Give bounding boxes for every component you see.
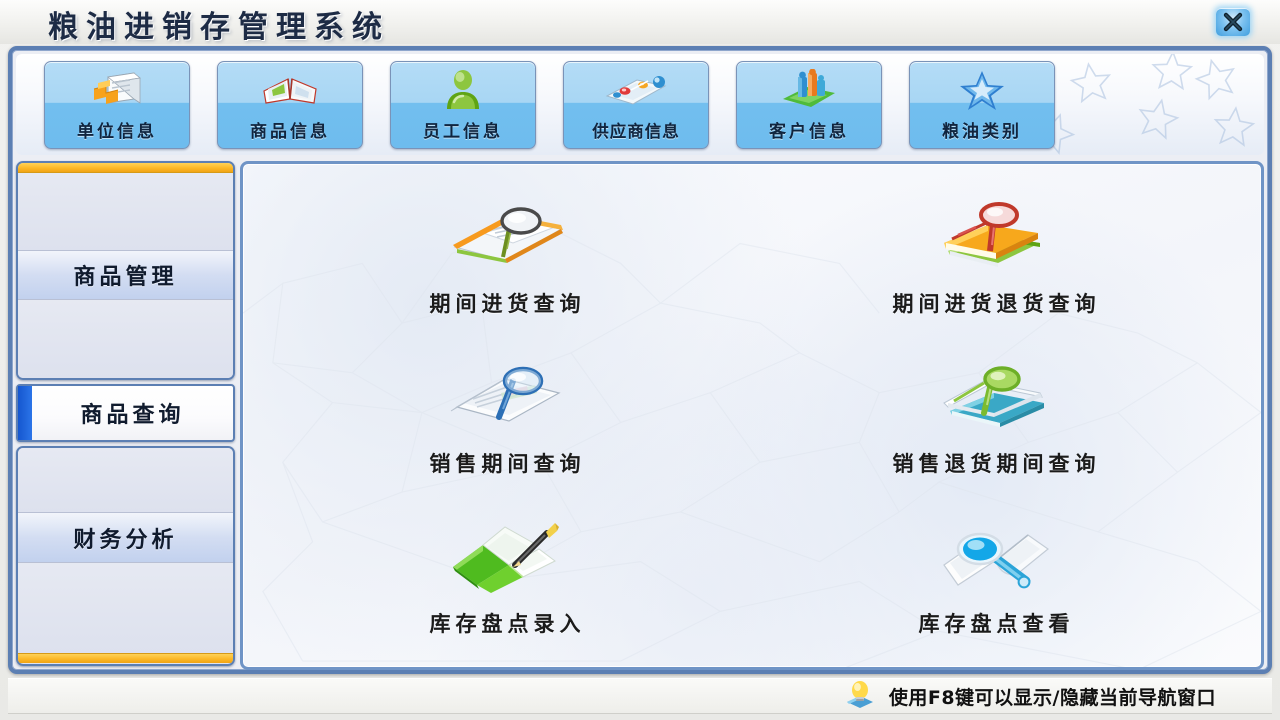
main-frame: 单位信息 商品信息 <box>8 46 1272 674</box>
blue-star-icon <box>910 68 1054 112</box>
toolbar-button-label: 粮油类别 <box>942 117 1022 142</box>
shortcut-label: 库存盘点录入 <box>430 608 586 638</box>
group-empty-space-top <box>18 448 233 512</box>
shortcut-sales-period-query[interactable]: 销售期间查询 <box>263 338 752 498</box>
person-icon <box>391 68 535 112</box>
shortcut-label: 期间进货查询 <box>430 288 586 318</box>
page-title: 粮油进销存管理系统 <box>48 2 390 46</box>
white-book-cyan-magnifier-icon <box>932 517 1062 597</box>
shortcut-stocktaking-view[interactable]: 库存盘点查看 <box>752 497 1241 657</box>
sidebar: 商品管理 商品查询 财务分析 <box>16 161 235 670</box>
status-hint-text: 使用F8键可以显示/隐藏当前导航窗口 <box>889 683 1216 710</box>
shortcut-label: 期间进货退货查询 <box>893 288 1101 318</box>
toolbar-button-unit-info[interactable]: 单位信息 <box>44 61 190 149</box>
group-top-accent-bar <box>18 163 233 173</box>
toolbar-button-product-info[interactable]: 商品信息 <box>217 61 363 149</box>
application-window: 粮油进销存管理系统 <box>0 0 1280 720</box>
shortcut-stocktaking-entry[interactable]: 库存盘点录入 <box>263 497 752 657</box>
customers-group-icon <box>737 68 881 112</box>
sidebar-group-product-management[interactable]: 商品管理 <box>16 161 235 380</box>
building-info-icon <box>45 68 189 112</box>
toolbar-button-customer-info[interactable]: 客户信息 <box>736 61 882 149</box>
group-empty-space-bottom <box>18 300 233 378</box>
toolbar-button-label: 员工信息 <box>423 117 503 142</box>
toolbar-button-label: 供应商信息 <box>592 118 680 142</box>
shortcut-period-purchase-query[interactable]: 期间进货查询 <box>263 178 752 338</box>
group-empty-space-top <box>18 173 233 250</box>
sidebar-item-label: 商品管理 <box>73 259 177 291</box>
close-button[interactable] <box>1216 8 1250 36</box>
toolbar-button-label: 单位信息 <box>77 117 157 142</box>
yellow-books-red-magnifier-icon <box>932 197 1062 277</box>
sidebar-group-financial-analysis[interactable]: 财务分析 <box>16 446 235 666</box>
shortcut-label: 销售期间查询 <box>430 448 586 478</box>
lightbulb-tip-icon <box>843 679 877 713</box>
shortcut-label: 销售退货期间查询 <box>893 448 1101 478</box>
book-green-magnifier-icon <box>932 357 1062 437</box>
content-panel: 期间进货查询 <box>240 161 1264 670</box>
open-book-icon <box>218 68 362 112</box>
group-bottom-accent-bar <box>18 653 233 663</box>
toolbar-button-grain-oil-category[interactable]: 粮油类别 <box>909 61 1055 149</box>
sidebar-item-financial-analysis[interactable]: 财务分析 <box>18 513 233 562</box>
toolbar-button-employee-info[interactable]: 员工信息 <box>390 61 536 149</box>
sidebar-item-label: 商品查询 <box>66 397 184 429</box>
supplier-plane-icon <box>564 68 708 112</box>
shortcut-label: 库存盘点查看 <box>919 608 1075 638</box>
sidebar-item-label: 财务分析 <box>73 522 177 554</box>
group-empty-space-bottom <box>18 563 233 653</box>
paper-blue-magnifier-icon <box>443 357 573 437</box>
sidebar-item-product-query[interactable]: 商品查询 <box>16 384 235 442</box>
toolbar-button-label: 商品信息 <box>250 117 330 142</box>
toolbar-button-supplier-info[interactable]: 供应商信息 <box>563 61 709 149</box>
toolbar: 单位信息 商品信息 <box>16 54 1264 155</box>
orange-book-magnifier-icon <box>443 197 573 277</box>
shortcut-grid: 期间进货查询 <box>243 164 1261 667</box>
shortcut-period-purchase-return-query[interactable]: 期间进货退货查询 <box>752 178 1241 338</box>
shortcut-sales-return-period-query[interactable]: 销售退货期间查询 <box>752 338 1241 498</box>
title-bar: 粮油进销存管理系统 <box>0 0 1280 44</box>
sidebar-item-product-management[interactable]: 商品管理 <box>18 251 233 299</box>
toolbar-button-label: 客户信息 <box>769 117 849 142</box>
status-bar: 使用F8键可以显示/隐藏当前导航窗口 <box>8 678 1272 714</box>
green-book-pencil-icon <box>443 517 573 597</box>
